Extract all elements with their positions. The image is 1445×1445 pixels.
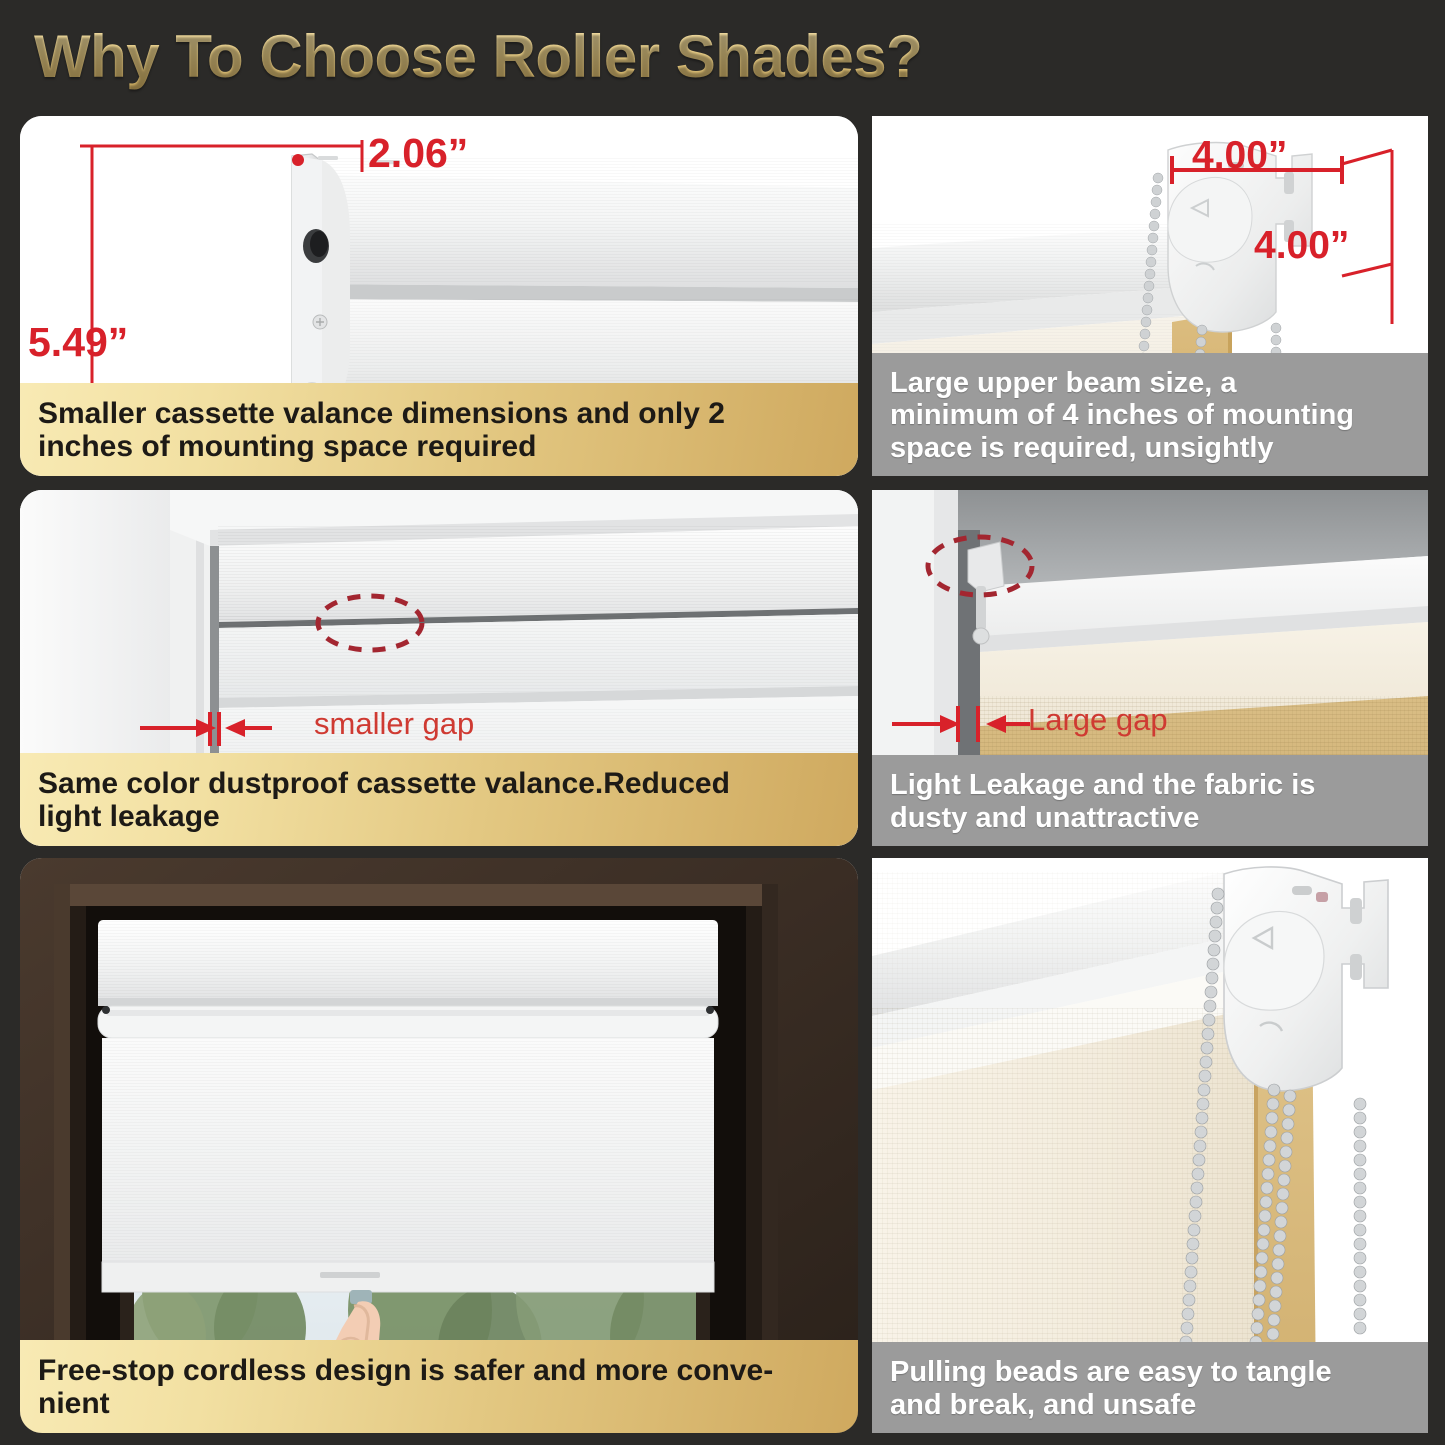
caption-large-upper-beam: Large upper beam size, a minimum of 4 in…: [872, 353, 1428, 476]
panel-large-upper-beam: 4.00” 4.00” Large upper beam size, a min…: [872, 116, 1428, 476]
caption-line-2: nient: [38, 1387, 840, 1421]
panel-dustproof-valance: smaller gap Same color dustproof cassett…: [20, 490, 858, 846]
panel-cordless-design: Free-stop cordless design is safer and m…: [20, 858, 858, 1433]
caption-line-1: Same color dustproof cassette valance.Re…: [38, 767, 840, 801]
caption-line-1: Smaller cassette valance dimensions and …: [38, 397, 840, 431]
caption-cordless-design: Free-stop cordless design is safer and m…: [20, 1340, 858, 1433]
panel-light-leakage: Large gap Light Leakage and the fabric i…: [872, 490, 1428, 846]
caption-dustproof-valance: Same color dustproof cassette valance.Re…: [20, 753, 858, 846]
caption-line-1: Free-stop cordless design is safer and m…: [38, 1354, 840, 1388]
large-gap-label: Large gap: [1028, 702, 1168, 738]
caption-line-2: inches of mounting space required: [38, 430, 840, 464]
panel-pulling-beads: Pulling beads are easy to tangle and bre…: [872, 858, 1428, 1433]
infographic-root: Why To Choose Roller Shades?: [0, 0, 1445, 1445]
caption-line-2: minimum of 4 inches of mounting: [890, 399, 1410, 431]
caption-line-2: dusty and unattractive: [890, 802, 1410, 834]
page-title: Why To Choose Roller Shades?: [34, 22, 1334, 92]
caption-cassette-dimensions: Smaller cassette valance dimensions and …: [20, 383, 858, 476]
caption-pulling-beads: Pulling beads are easy to tangle and bre…: [872, 1342, 1428, 1433]
caption-line-3: space is required, unsightly: [890, 432, 1410, 464]
beam-height-dimension-label: 4.00”: [1254, 224, 1349, 268]
caption-line-2: and break, and unsafe: [890, 1389, 1410, 1421]
comparison-grid: 2.06” 5.49” Smaller cassette valance dim…: [0, 104, 1445, 1445]
caption-line-2: light leakage: [38, 800, 840, 834]
caption-line-1: Pulling beads are easy to tangle: [890, 1356, 1410, 1388]
beam-width-dimension-label: 4.00”: [1192, 134, 1287, 178]
caption-light-leakage: Light Leakage and the fabric is dusty an…: [872, 755, 1428, 846]
caption-line-1: Light Leakage and the fabric is: [890, 769, 1410, 801]
caption-line-1: Large upper beam size, a: [890, 367, 1410, 399]
smaller-gap-label: smaller gap: [314, 706, 474, 742]
panel-cassette-dimensions: 2.06” 5.49” Smaller cassette valance dim…: [20, 116, 858, 476]
width-dimension-label: 2.06”: [368, 130, 468, 177]
height-dimension-label: 5.49”: [28, 319, 128, 366]
